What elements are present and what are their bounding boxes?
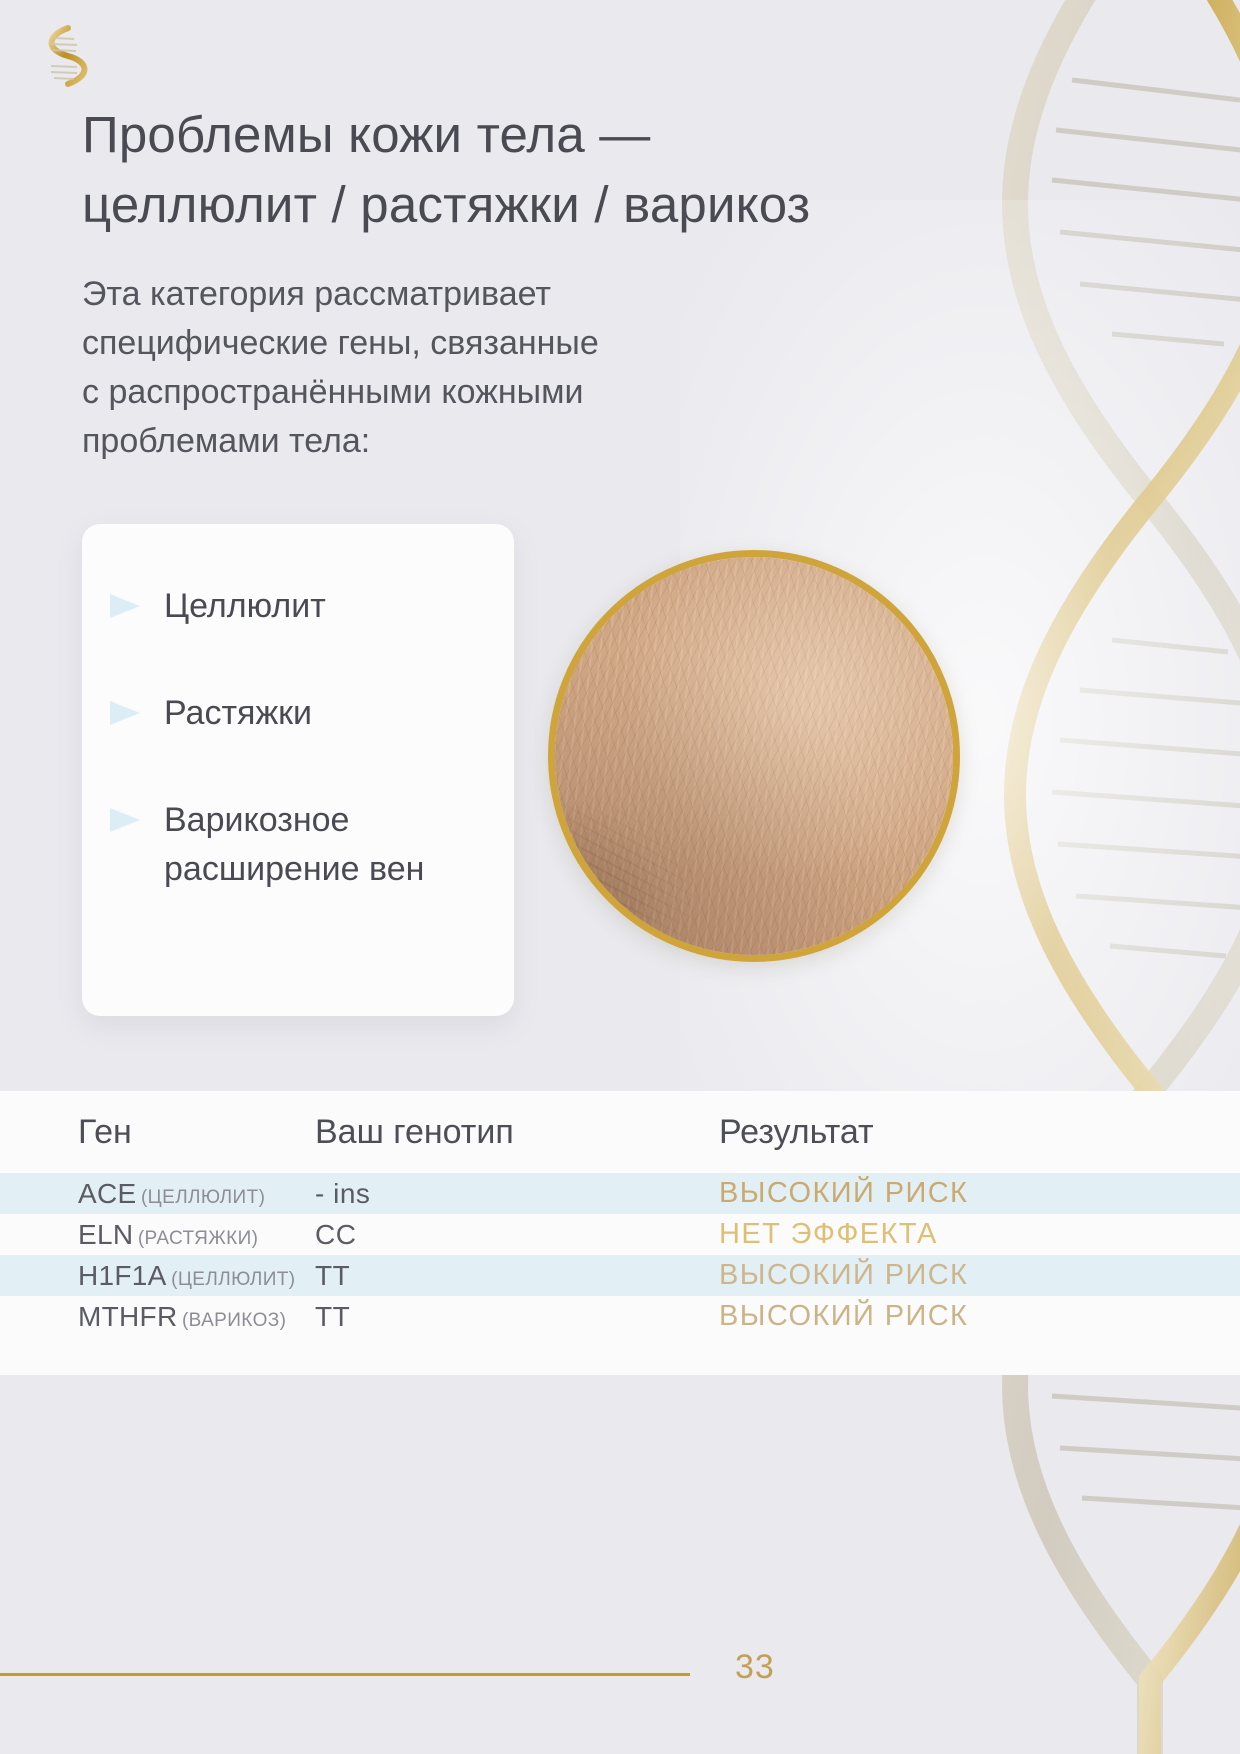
cell-genotype: - ins xyxy=(315,1178,719,1210)
conditions-card: Целлюлит Растяжки Варикозное расширение … xyxy=(82,524,514,1016)
skin-shading xyxy=(555,557,953,955)
intro-line-4: проблемами тела: xyxy=(82,422,370,460)
gene-name: H1F1A xyxy=(78,1260,167,1291)
list-item: Целлюлит xyxy=(108,582,474,631)
status-badge: НЕТ ЭФФЕКТА xyxy=(719,1218,1180,1251)
slide-page: Проблемы кожи тела — целлюлит / растяжки… xyxy=(0,0,1240,1754)
table-row: ELN (РАСТЯЖКИ) CC НЕТ ЭФФЕКТА xyxy=(0,1214,1240,1255)
triangle-right-icon xyxy=(108,699,148,727)
list-item-label: Варикозное расширение вен xyxy=(164,796,474,894)
gene-note: (ЦЕЛЛЮЛИТ) xyxy=(141,1187,265,1208)
cell-genotype: TT xyxy=(315,1301,719,1333)
cell-result: ВЫСОКИЙ РИСК xyxy=(719,1259,1240,1292)
intro-line-2: специфические гены, связанные xyxy=(82,324,599,362)
table-row: ACE (ЦЕЛЛЮЛИТ) - ins ВЫСОКИЙ РИСК xyxy=(0,1173,1240,1214)
cell-result: ВЫСОКИЙ РИСК xyxy=(719,1177,1240,1210)
cellulite-stretch-marks-skin-photo xyxy=(548,550,960,962)
list-item-label: Растяжки xyxy=(164,689,312,738)
dna-helix-icon xyxy=(34,22,90,90)
intro-line-3: с распространёнными кожными xyxy=(82,373,583,411)
page-title-line-1: Проблемы кожи тела — xyxy=(82,106,651,163)
status-badge: ВЫСОКИЙ РИСК xyxy=(719,1300,1180,1333)
column-header-gene: Ген xyxy=(0,1113,315,1152)
gene-name: MTHFR xyxy=(78,1301,177,1332)
list-item: Варикозное расширение вен xyxy=(108,796,474,894)
table-footer-spacer xyxy=(0,1337,1240,1375)
gene-results-table: Ген Ваш генотип Результат ACE (ЦЕЛЛЮЛИТ)… xyxy=(0,1091,1240,1375)
column-header-genotype: Ваш генотип xyxy=(315,1113,719,1152)
gene-note: (ВАРИКОЗ) xyxy=(182,1310,286,1331)
table-row: H1F1A (ЦЕЛЛЮЛИТ) TT ВЫСОКИЙ РИСК xyxy=(0,1255,1240,1296)
list-item-label: Целлюлит xyxy=(164,582,326,631)
cell-result: ВЫСОКИЙ РИСК xyxy=(719,1300,1240,1333)
cell-result: НЕТ ЭФФЕКТА xyxy=(719,1218,1240,1251)
status-badge: ВЫСОКИЙ РИСК xyxy=(719,1177,1180,1210)
triangle-right-icon xyxy=(108,592,148,620)
footer-divider xyxy=(0,1673,690,1676)
page-title: Проблемы кожи тела — целлюлит / растяжки… xyxy=(82,100,962,240)
column-header-result: Результат xyxy=(719,1113,1240,1152)
page-number: 33 xyxy=(735,1648,775,1687)
triangle-right-icon xyxy=(108,806,148,834)
cell-gene: ACE (ЦЕЛЛЮЛИТ) xyxy=(0,1178,315,1210)
intro-line-1: Эта категория рассматривает xyxy=(82,275,551,313)
cell-gene: H1F1A (ЦЕЛЛЮЛИТ) xyxy=(0,1260,315,1292)
gene-name: ACE xyxy=(78,1178,136,1209)
status-badge: ВЫСОКИЙ РИСК xyxy=(719,1259,1180,1292)
gene-note: (ЦЕЛЛЮЛИТ) xyxy=(171,1269,295,1290)
gene-note: (РАСТЯЖКИ) xyxy=(138,1228,259,1249)
page-title-line-2: целлюлит / растяжки / варикоз xyxy=(82,176,810,233)
table-row: MTHFR (ВАРИКОЗ) TT ВЫСОКИЙ РИСК xyxy=(0,1296,1240,1337)
cell-gene: MTHFR (ВАРИКОЗ) xyxy=(0,1301,315,1333)
cell-genotype: TT xyxy=(315,1260,719,1292)
gene-name: ELN xyxy=(78,1219,133,1250)
cell-genotype: CC xyxy=(315,1219,719,1251)
cell-gene: ELN (РАСТЯЖКИ) xyxy=(0,1219,315,1251)
list-item: Растяжки xyxy=(108,689,474,738)
intro-paragraph: Эта категория рассматривает специфически… xyxy=(82,270,822,466)
table-header-row: Ген Ваш генотип Результат xyxy=(0,1091,1240,1173)
